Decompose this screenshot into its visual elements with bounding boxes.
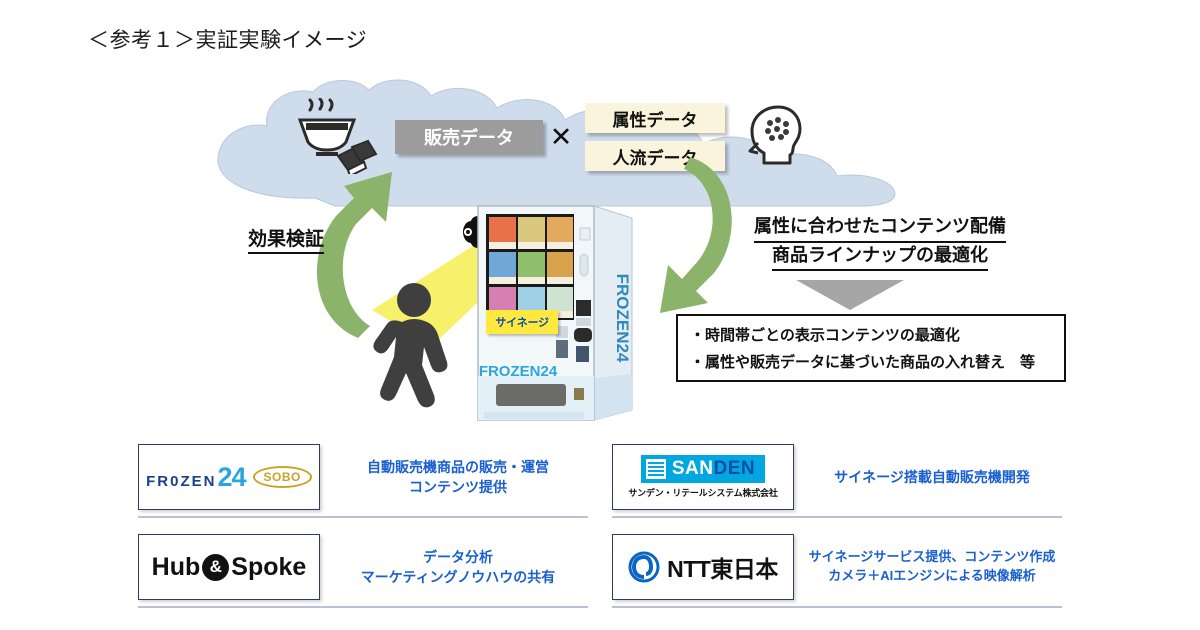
multiply-symbol: ✕ — [546, 122, 576, 152]
bullet-item: ・時間帯ごとの表示コンテンツの最適化 — [690, 324, 1052, 345]
partner-row-sanden: SANDEN サンデン・リテールシステム株式会社 サイネージ搭載自動販売機開発 — [612, 444, 1062, 522]
partner-divider — [138, 606, 588, 608]
frozen24-logo-number: 24 — [217, 462, 245, 493]
partner-desc-line-1: サイネージサービス提供、コンテンツ作成 — [809, 548, 1056, 567]
partner-desc-line-2: コンテンツ提供 — [409, 477, 507, 497]
down-arrow-icon — [790, 278, 910, 312]
ntt-logo: NTT東日本 — [628, 550, 778, 584]
optimization-headline: 属性に合わせたコンテンツ配備 商品ラインナップの最適化 — [690, 214, 1070, 271]
hubspoke-ampersand: & — [202, 554, 229, 581]
logo-ntt-east: NTT東日本 — [612, 534, 794, 600]
bullet-item: ・属性や販売データに基づいた商品の入れ替え 等 — [690, 351, 1052, 372]
sanden-logo-bar: SANDEN — [641, 455, 765, 483]
svg-text:FROZEN24: FROZEN24 — [613, 274, 632, 363]
partner-desc-line-1: データ分析 — [423, 547, 493, 567]
walking-person-icon — [369, 278, 461, 413]
partner-description: サイネージ搭載自動販売機開発 — [802, 444, 1062, 510]
signage-label: サイネージ — [486, 310, 558, 334]
partner-desc-line-2: マーケティングノウハウの共有 — [361, 567, 556, 587]
sanden-company-name: サンデン・リテールシステム株式会社 — [628, 486, 777, 499]
hubspoke-logo-spoke: Spoke — [231, 553, 306, 582]
logo-hub-and-spoke: Hub & Spoke — [138, 534, 320, 600]
diagram-canvas: ＜参考１＞実証実験イメージ 販売データ ✕ 属性データ 人流データ — [0, 0, 1200, 630]
partner-desc-line-1: サイネージ搭載自動販売機開発 — [834, 467, 1030, 487]
ntt-dynamic-loop-icon — [628, 551, 660, 583]
sales-data-chip: 販売データ — [395, 120, 543, 154]
optimization-line-1: 属性に合わせたコンテンツ配備 — [754, 214, 1006, 243]
partner-row-hubspoke: Hub & Spoke データ分析 マーケティングノウハウの共有 — [138, 534, 588, 612]
hubspoke-logo: Hub & Spoke — [152, 553, 307, 582]
attribute-data-chip: 属性データ — [585, 103, 725, 133]
sobo-badge: SOBO — [253, 466, 312, 488]
effect-verification-label: 効果検証 — [248, 224, 324, 254]
sanden-logo: SANDEN サンデン・リテールシステム株式会社 — [628, 455, 777, 499]
optimization-line-2: 商品ラインナップの最適化 — [772, 243, 988, 272]
logo-frozen24-sobo: FR0ZEN 24 SOBO — [138, 444, 320, 510]
ntt-logo-text: NTT東日本 — [667, 550, 778, 584]
partner-row-frozen24: FR0ZEN 24 SOBO 自動販売機商品の販売・運営 コンテンツ提供 — [138, 444, 588, 522]
partner-description: サイネージサービス提供、コンテンツ作成 カメラ＋AIエンジンによる映像解析 — [802, 534, 1062, 600]
partner-grid: FR0ZEN 24 SOBO 自動販売機商品の販売・運営 コンテンツ提供 — [0, 440, 1200, 620]
sanden-stripes-icon — [646, 459, 666, 479]
hubspoke-logo-hub: Hub — [152, 553, 201, 582]
partner-divider — [612, 516, 1062, 518]
svg-text:FROZEN24: FROZEN24 — [479, 363, 558, 380]
partner-row-ntt-east: NTT東日本 サイネージサービス提供、コンテンツ作成 カメラ＋AIエンジンによる… — [612, 534, 1062, 612]
partner-description: データ分析 マーケティングノウハウの共有 — [328, 534, 588, 600]
partner-divider — [138, 516, 588, 518]
partner-desc-line-1: 自動販売機商品の販売・運営 — [367, 457, 549, 477]
partner-description: 自動販売機商品の販売・運営 コンテンツ提供 — [328, 444, 588, 510]
sanden-logo-text: SANDEN — [672, 458, 755, 480]
frozen24-logo-text: FR0ZEN — [146, 473, 216, 490]
partner-desc-line-2: カメラ＋AIエンジンによる映像解析 — [828, 567, 1036, 586]
partner-divider — [612, 606, 1062, 608]
page-title: ＜参考１＞実証実験イメージ — [88, 24, 367, 54]
logo-sanden: SANDEN サンデン・リテールシステム株式会社 — [612, 444, 794, 510]
frozen24-logo: FR0ZEN 24 — [146, 462, 245, 493]
optimization-detail-box: ・時間帯ごとの表示コンテンツの最適化 ・属性や販売データに基づいた商品の入れ替え… — [676, 314, 1066, 382]
